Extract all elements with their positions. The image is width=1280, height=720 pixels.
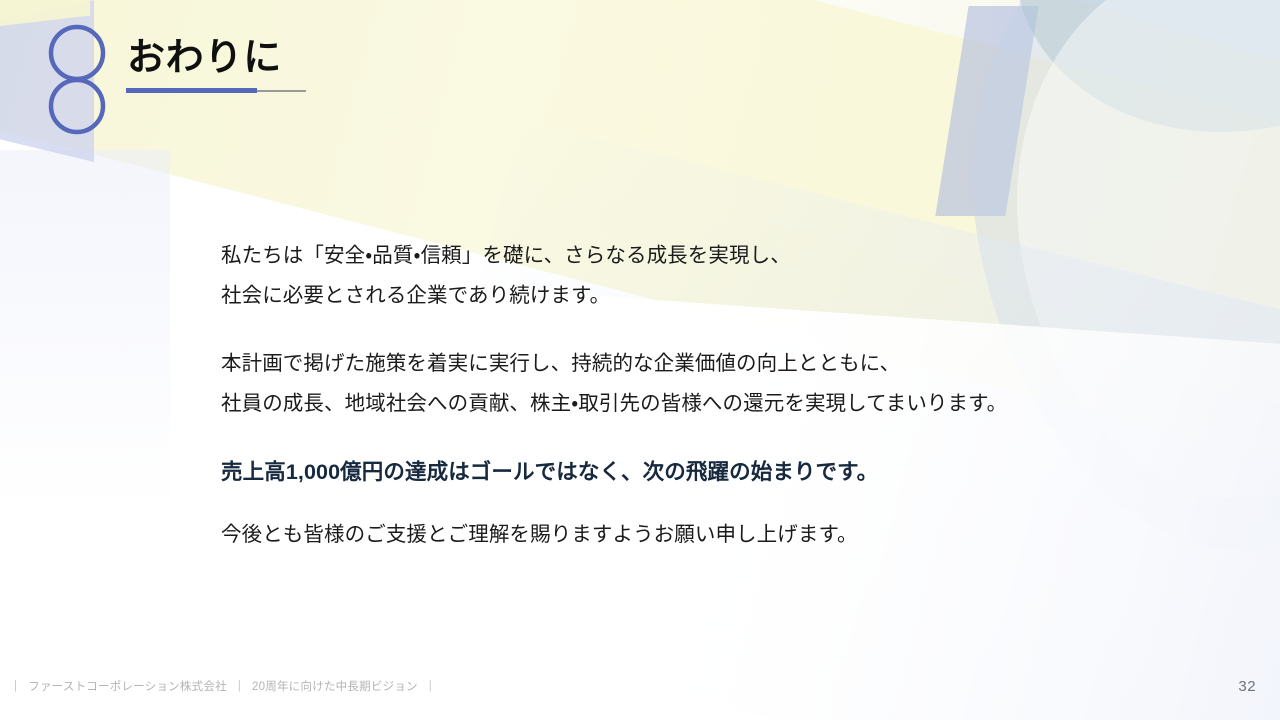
slide-footer: | ファーストコーポレーション株式会社 | 20周年に向けた中長期ビジョン | … [0,668,1280,720]
paragraph-line: 今後とも皆様のご支援とご理解を賜りますようお願い申し上げます。 [221,515,1101,555]
title-underline-accent [126,88,257,93]
paragraph-closing: 今後とも皆様のご支援とご理解を賜りますようお願い申し上げます。 [221,515,1101,555]
title-underline-tail [257,90,306,92]
footer-separator-middle: | [238,680,241,692]
paragraph-line: 本計画で掲げた施策を着実に実行し、持続的な企業価値の向上とともに、 [221,344,1101,384]
page-title: おわりに [127,39,282,77]
background-left-band [0,150,170,670]
footer-document-title: 20周年に向けた中長期ビジョン [252,678,418,694]
paragraph-line: 私たちは「安全・品質・信頼」を礎に、さらなる成長を実現し、 [221,236,1101,276]
body-copy: 私たちは「安全・品質・信頼」を礎に、さらなる成長を実現し、 社会に必要とされる企… [221,236,1101,555]
paragraph-goal-highlight: 売上高1,000億円の達成はゴールではなく、次の飛躍の始まりです。 [221,452,1101,493]
paragraph-mission: 私たちは「安全・品質・信頼」を礎に、さらなる成長を実現し、 社会に必要とされる企… [221,236,1101,316]
paragraph-plan: 本計画で掲げた施策を着実に実行し、持続的な企業価値の向上とともに、 社員の成長、… [221,344,1101,424]
section-number-8 [44,20,116,140]
footer-separator-right: | [429,680,432,692]
slide: おわりに 私たちは「安全・品質・信頼」を礎に、さらなる成長を実現し、 社会に必要… [0,0,1280,720]
footer-company-name: ファーストコーポレーション株式会社 [28,678,227,694]
paragraph-line: 社会に必要とされる企業であり続けます。 [221,276,1101,316]
title-underline [126,88,306,93]
slide-header: おわりに [0,0,1280,150]
footer-separator-left: | [14,680,17,692]
page-number: 32 [1238,678,1256,695]
footer-credits: | ファーストコーポレーション株式会社 | 20周年に向けた中長期ビジョン | [14,678,432,694]
paragraph-line: 売上高1,000億円の達成はゴールではなく、次の飛躍の始まりです。 [221,452,1101,493]
paragraph-line: 社員の成長、地域社会への貢献、株主・取引先の皆様への還元を実現してまいります。 [221,384,1101,424]
